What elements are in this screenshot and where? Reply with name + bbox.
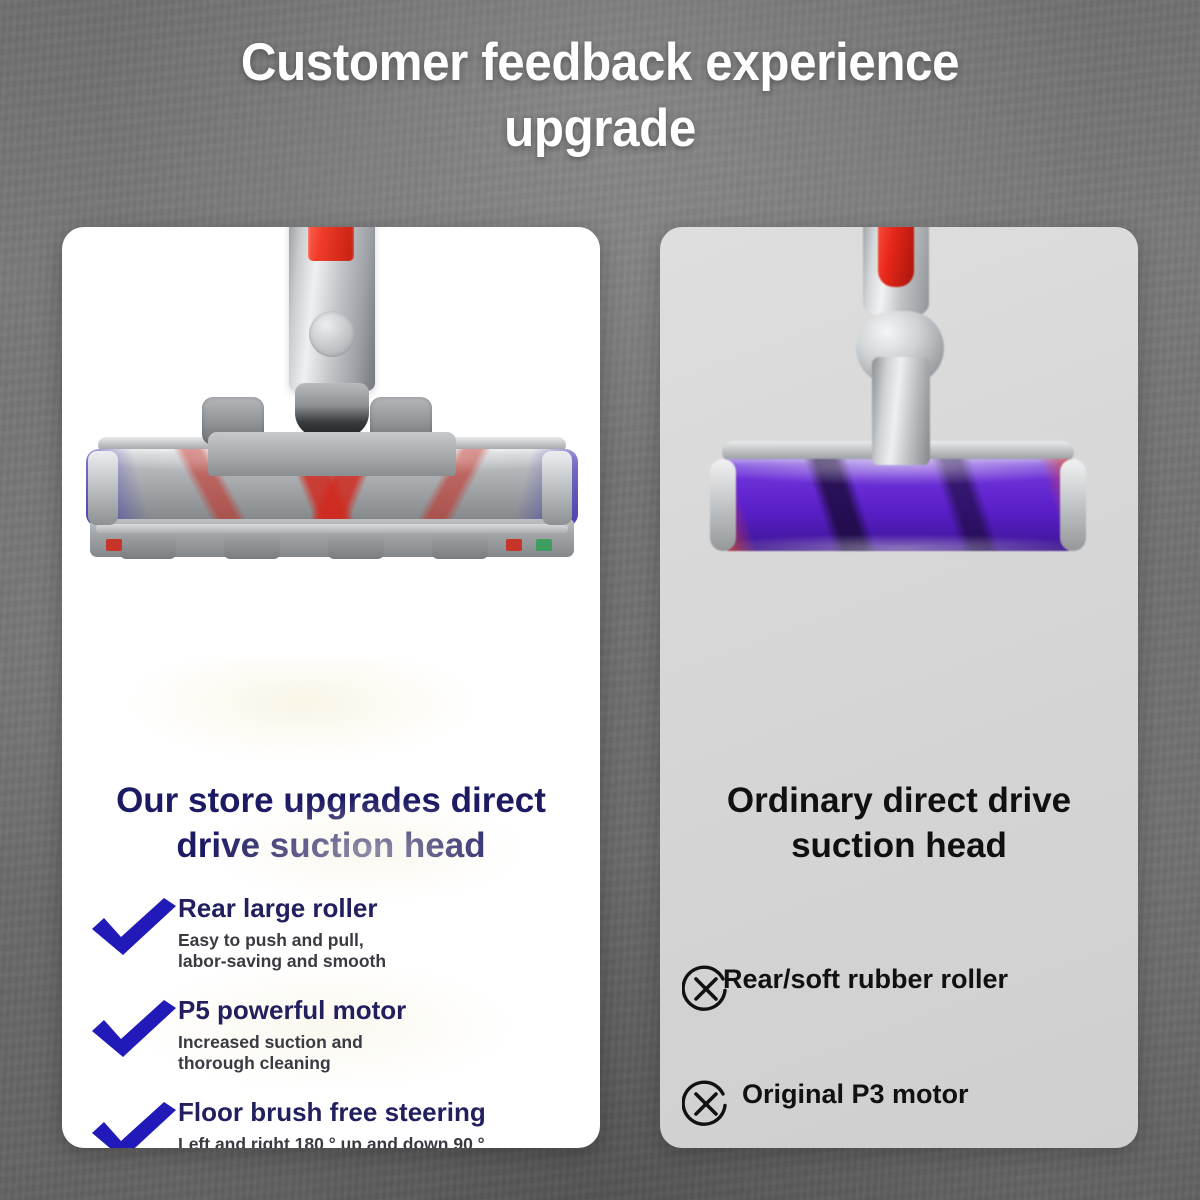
wand-dial <box>309 311 355 357</box>
roller-endcap-right <box>542 451 572 525</box>
feature-title: Rear large roller <box>178 892 582 924</box>
upgraded-feature-list: Rear large roller Easy to push and pull,… <box>90 890 582 1148</box>
feature-desc: Easy to push and pull, labor-saving and … <box>178 930 582 972</box>
sole-tab-red <box>106 539 122 551</box>
feature-item: P5 powerful motor Increased suction and … <box>90 992 582 1074</box>
page-title: Customer feedback experience upgrade <box>42 30 1158 162</box>
sole-cleat <box>432 535 488 559</box>
comparison-card-upgraded: Our store upgrades direct drive suction … <box>62 227 600 1148</box>
feature-desc: Left and right 180 ° up and down 90 ° fr… <box>178 1134 582 1148</box>
sole-cleat <box>224 535 280 559</box>
red-trigger <box>308 227 354 261</box>
sole-tab-red <box>506 539 522 551</box>
head-yoke <box>208 432 456 476</box>
drawback-item: Rear/soft rubber roller <box>682 962 1122 1013</box>
ordinary-feature-list: Rear/soft rubber roller Original P3 moto… <box>682 962 1122 1148</box>
feature-desc: Increased suction and thorough cleaning <box>178 1032 582 1074</box>
roller-endcap-right <box>1060 459 1086 551</box>
roller-endcap-left <box>710 459 736 551</box>
product-image-ordinary-head <box>660 227 1138 557</box>
roller-endcap-left <box>88 451 118 525</box>
feature-title: P5 powerful motor <box>178 994 582 1026</box>
feature-item: Floor brush free steering Left and right… <box>90 1094 582 1148</box>
sole-cleat <box>120 535 176 559</box>
head-stem <box>872 357 930 465</box>
left-card-heading: Our store upgrades direct drive suction … <box>62 778 600 868</box>
drawback-title: Original P3 motor <box>742 1077 1122 1111</box>
drawback-item: Original P3 motor <box>682 1077 1122 1128</box>
swivel-joint <box>295 383 369 437</box>
red-cap <box>878 227 914 287</box>
sole-cleat <box>328 535 384 559</box>
circled-x-icon <box>682 1080 730 1128</box>
product-image-upgraded-head <box>62 227 600 557</box>
soft-purple-roller <box>714 459 1082 551</box>
feature-item: Rear large roller Easy to push and pull,… <box>90 890 582 972</box>
check-mark-icon <box>90 998 178 1060</box>
drawback-title: Rear/soft rubber roller <box>723 962 1122 996</box>
check-mark-icon <box>90 1100 178 1148</box>
right-card-heading: Ordinary direct drive suction head <box>660 778 1138 868</box>
comparison-card-ordinary: Ordinary direct drive suction head Rear/… <box>660 227 1138 1148</box>
sole-tab-green <box>536 539 552 551</box>
feature-title: Floor brush free steering <box>178 1096 582 1128</box>
check-mark-icon <box>90 896 178 958</box>
